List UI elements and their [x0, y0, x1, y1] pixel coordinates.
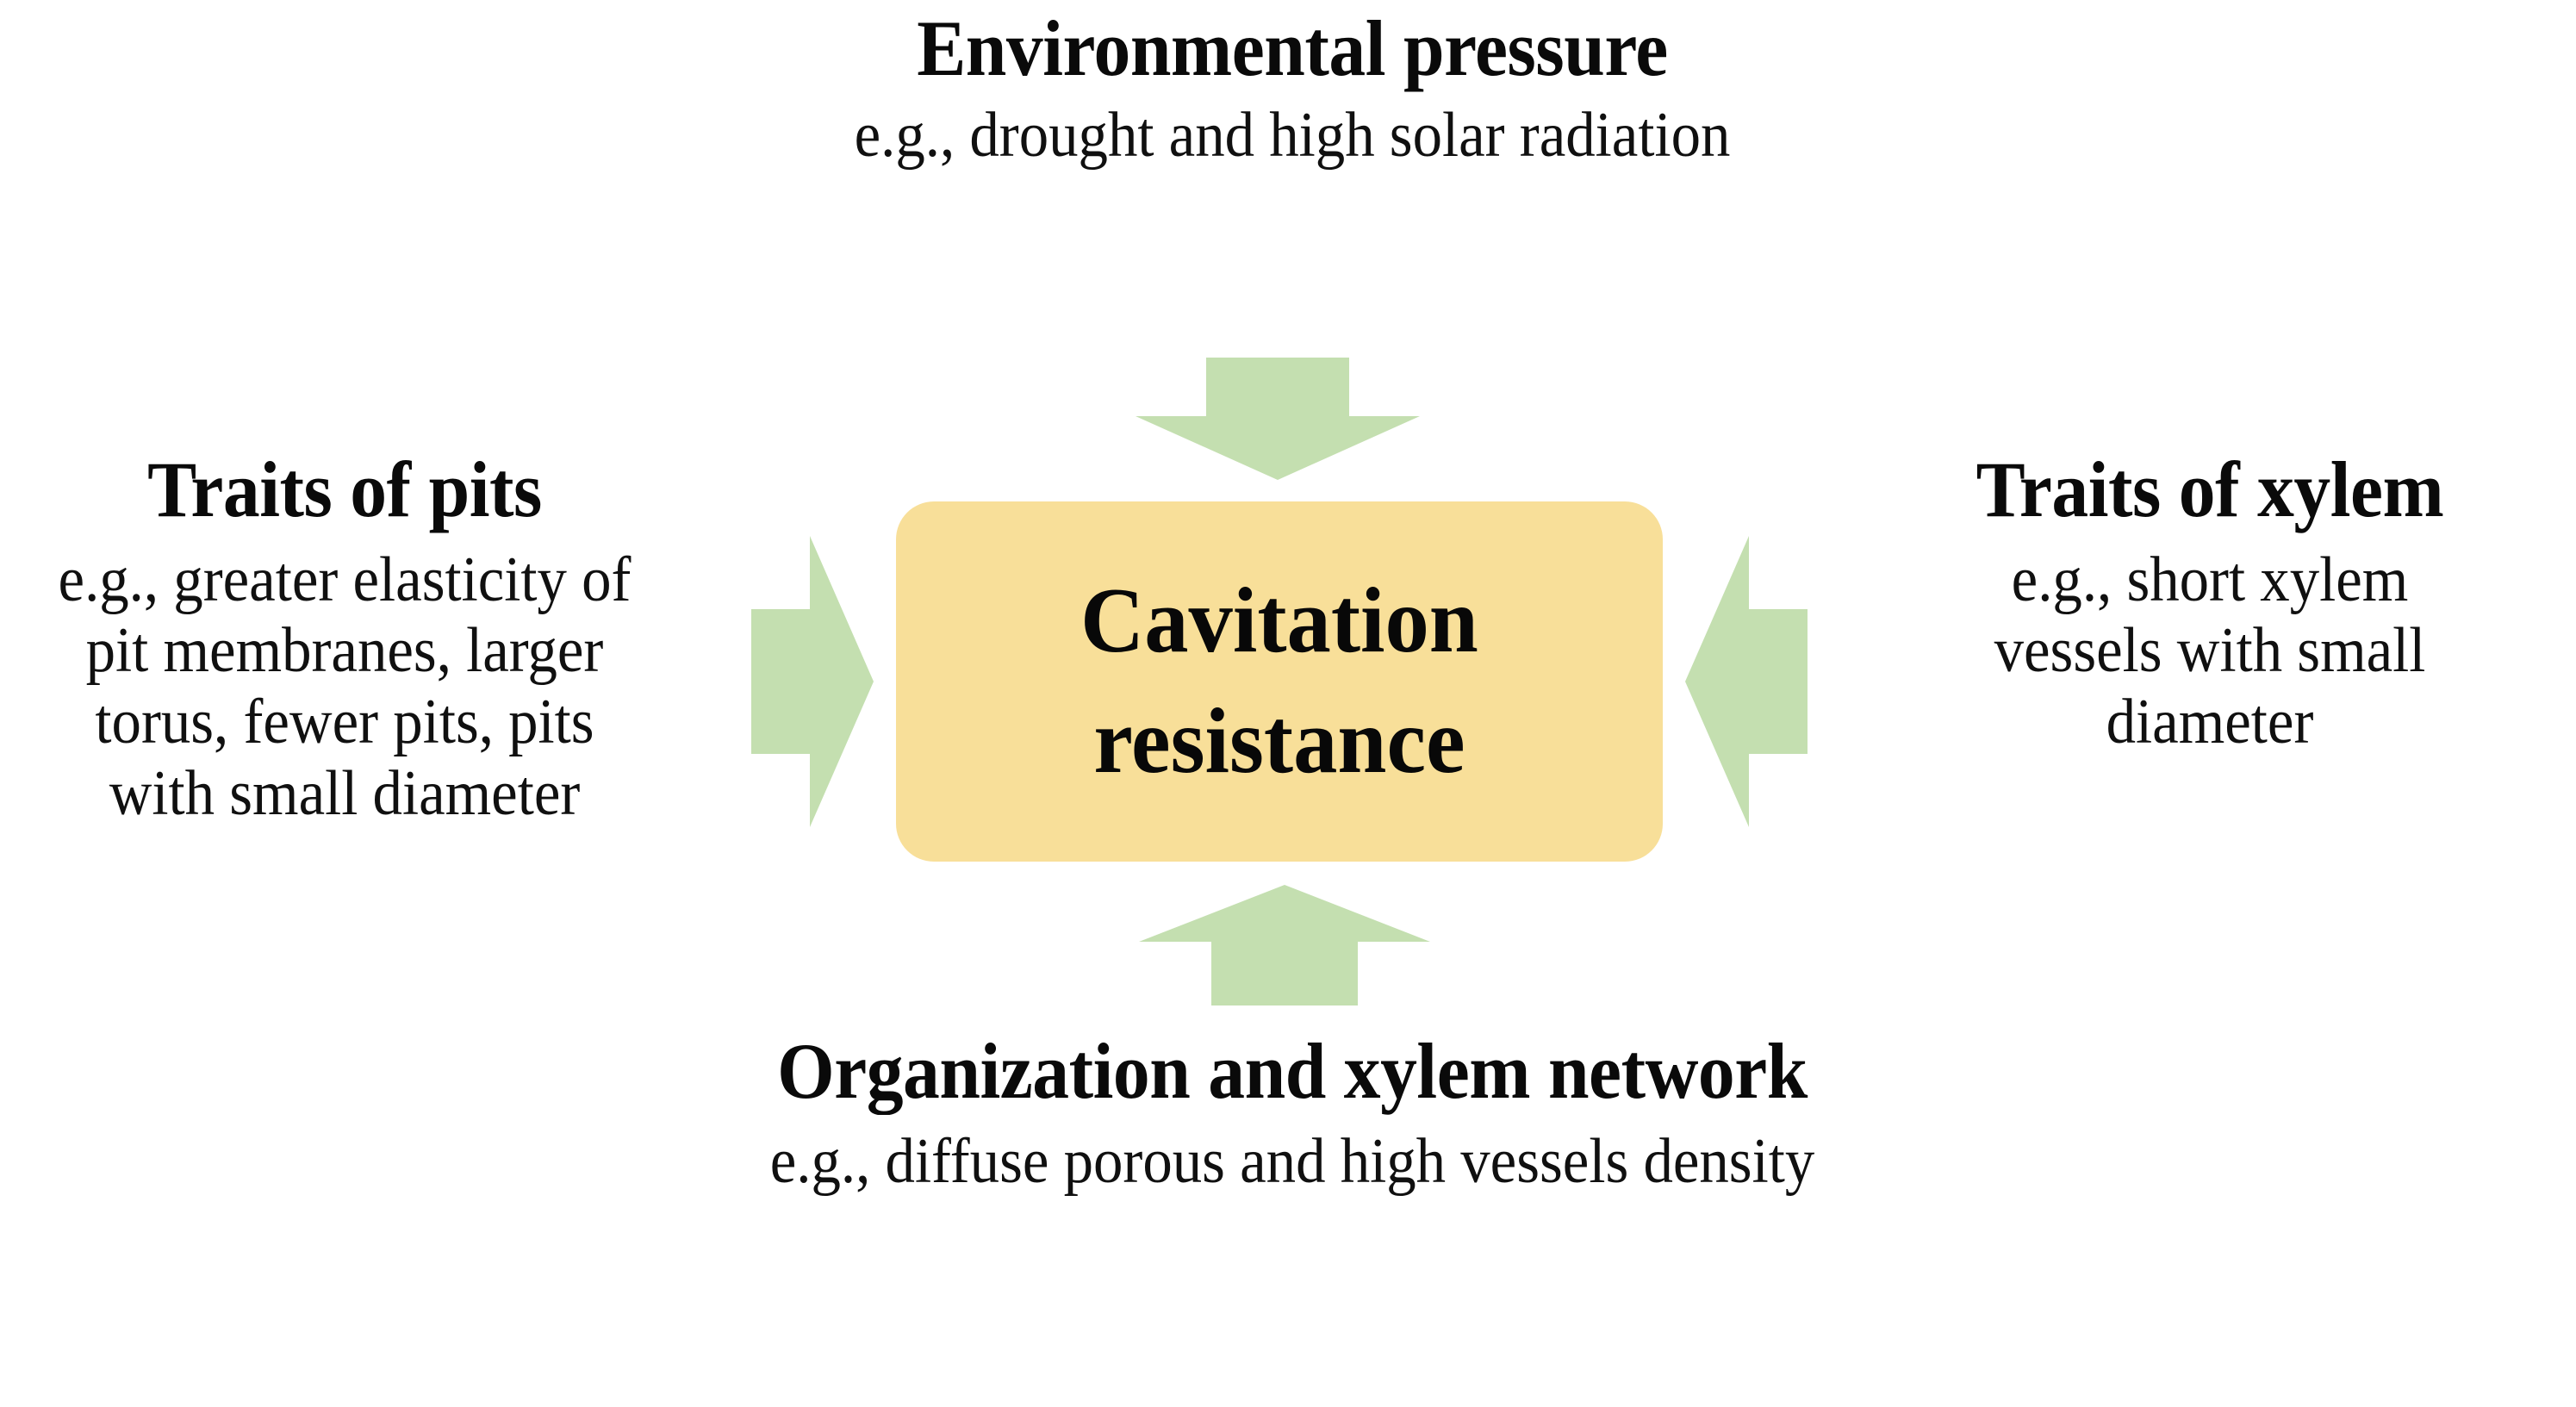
- center-concept-line-2: resistance: [1093, 682, 1465, 802]
- diagram-canvas: Environmental pressure e.g., drought and…: [0, 0, 2576, 1407]
- arrow-up-icon: [1139, 885, 1430, 1005]
- node-top-heading: Environmental pressure: [491, 7, 2094, 91]
- node-left-heading: Traits of pits: [24, 448, 665, 532]
- center-concept-line-1: Cavitation: [1080, 561, 1478, 682]
- node-top: Environmental pressure e.g., drought and…: [431, 7, 2154, 171]
- node-bottom-heading: Organization and xylem network: [475, 1030, 2109, 1114]
- node-top-subtext: e.g., drought and high solar radiation: [491, 100, 2094, 171]
- node-right: Traits of xylem e.g., short xylem vessel…: [1870, 448, 2550, 758]
- arrow-up-shape: [1139, 885, 1430, 1005]
- node-right-subtext: e.g., short xylem vessels with small dia…: [1894, 545, 2527, 759]
- node-right-heading: Traits of xylem: [1894, 448, 2527, 532]
- node-bottom-subtext: e.g., diffuse porous and high vessels de…: [475, 1126, 2109, 1198]
- node-left-subtext: e.g., greater elasticity of pit membrane…: [24, 545, 665, 831]
- node-left: Traits of pits e.g., greater elasticity …: [0, 448, 689, 830]
- center-concept-box: Cavitation resistance: [896, 501, 1663, 862]
- arrow-right-icon: [751, 536, 874, 827]
- arrow-right-shape: [751, 536, 874, 827]
- arrow-left-icon: [1685, 536, 1808, 827]
- arrow-down-icon: [1136, 358, 1420, 480]
- arrow-left-shape: [1685, 536, 1808, 827]
- arrow-down-shape: [1136, 358, 1420, 480]
- node-bottom: Organization and xylem network e.g., dif…: [414, 1030, 2171, 1197]
